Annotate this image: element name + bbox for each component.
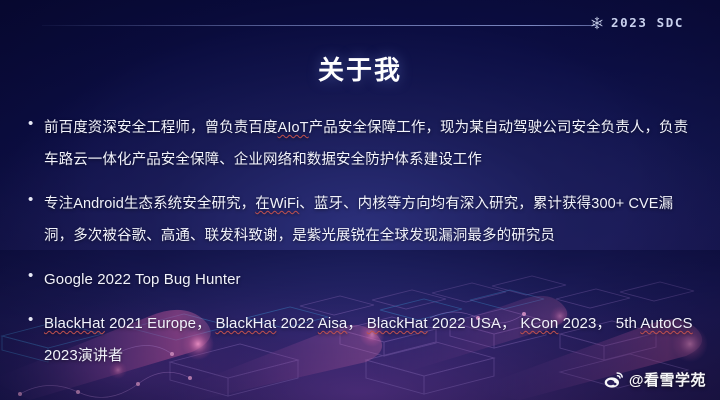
watermark-label: @看雪学苑 [629,369,706,390]
bullet-marker: • [28,308,44,332]
presentation-slide: 2023 SDC 关于我 • 前百度资深安全工程师，曾负责百度AIoT产品安全保… [0,0,720,400]
brand-label: 2023 SDC [611,15,684,30]
text-run: 前百度资深安全工程师，曾负责百度 [44,120,278,136]
spellcheck-error-run: BlackHat [44,315,105,332]
bullet-marker: • [28,264,44,288]
text-run: 专注Android生态系统安全研究， [44,196,255,212]
bullet-marker: • [28,188,44,212]
conference-brand: 2023 SDC [590,15,684,30]
text-run: 2022 [276,315,317,332]
header-divider-line [42,25,597,26]
list-item: • BlackHat 2021 Europe， BlackHat 2022 Ai… [28,308,694,372]
spellcheck-error-run: 在WiFi [255,196,299,212]
spellcheck-error-run: BlackHat [215,315,276,332]
bullet-award-text: Google 2022 Top Bug Hunter [44,264,241,296]
text-run: ， [347,315,366,332]
text-run: Google 2022 Top Bug Hunter [44,271,241,288]
weibo-icon [604,371,624,389]
spellcheck-error-run: AutoCS [640,315,692,332]
list-item: • 专注Android生态系统安全研究，在WiFi、蓝牙、内核等方向均有深入研究… [28,188,694,252]
spellcheck-error-run: AIoT [278,120,309,136]
list-item: • Google 2022 Top Bug Hunter [28,264,694,296]
weibo-watermark: @看雪学苑 [604,369,706,390]
text-run: 2022 USA， [428,315,521,332]
text-run: 2023， 5th [558,315,640,332]
spellcheck-error-run: BlackHat [367,315,428,332]
text-run: 2023演讲者 [44,347,123,364]
list-item: • 前百度资深安全工程师，曾负责百度AIoT产品安全保障工作，现为某自动驾驶公司… [28,112,694,176]
page-title: 关于我 [0,50,720,87]
bullet-list: • 前百度资深安全工程师，曾负责百度AIoT产品安全保障工作，现为某自动驾驶公司… [28,112,694,372]
spellcheck-error-run: KCon [520,315,558,332]
slide-header: 2023 SDC [0,0,720,40]
bullet-experience-text: 前百度资深安全工程师，曾负责百度AIoT产品安全保障工作，现为某自动驾驶公司安全… [44,112,694,176]
text-run: 2021 Europe， [105,315,216,332]
snowflake-icon [590,16,604,30]
spellcheck-error-run: Aisa [318,315,348,332]
bullet-talks-text: BlackHat 2021 Europe， BlackHat 2022 Aisa… [44,308,694,372]
bullet-research-text: 专注Android生态系统安全研究，在WiFi、蓝牙、内核等方向均有深入研究，累… [44,188,694,252]
bullet-marker: • [28,112,44,136]
